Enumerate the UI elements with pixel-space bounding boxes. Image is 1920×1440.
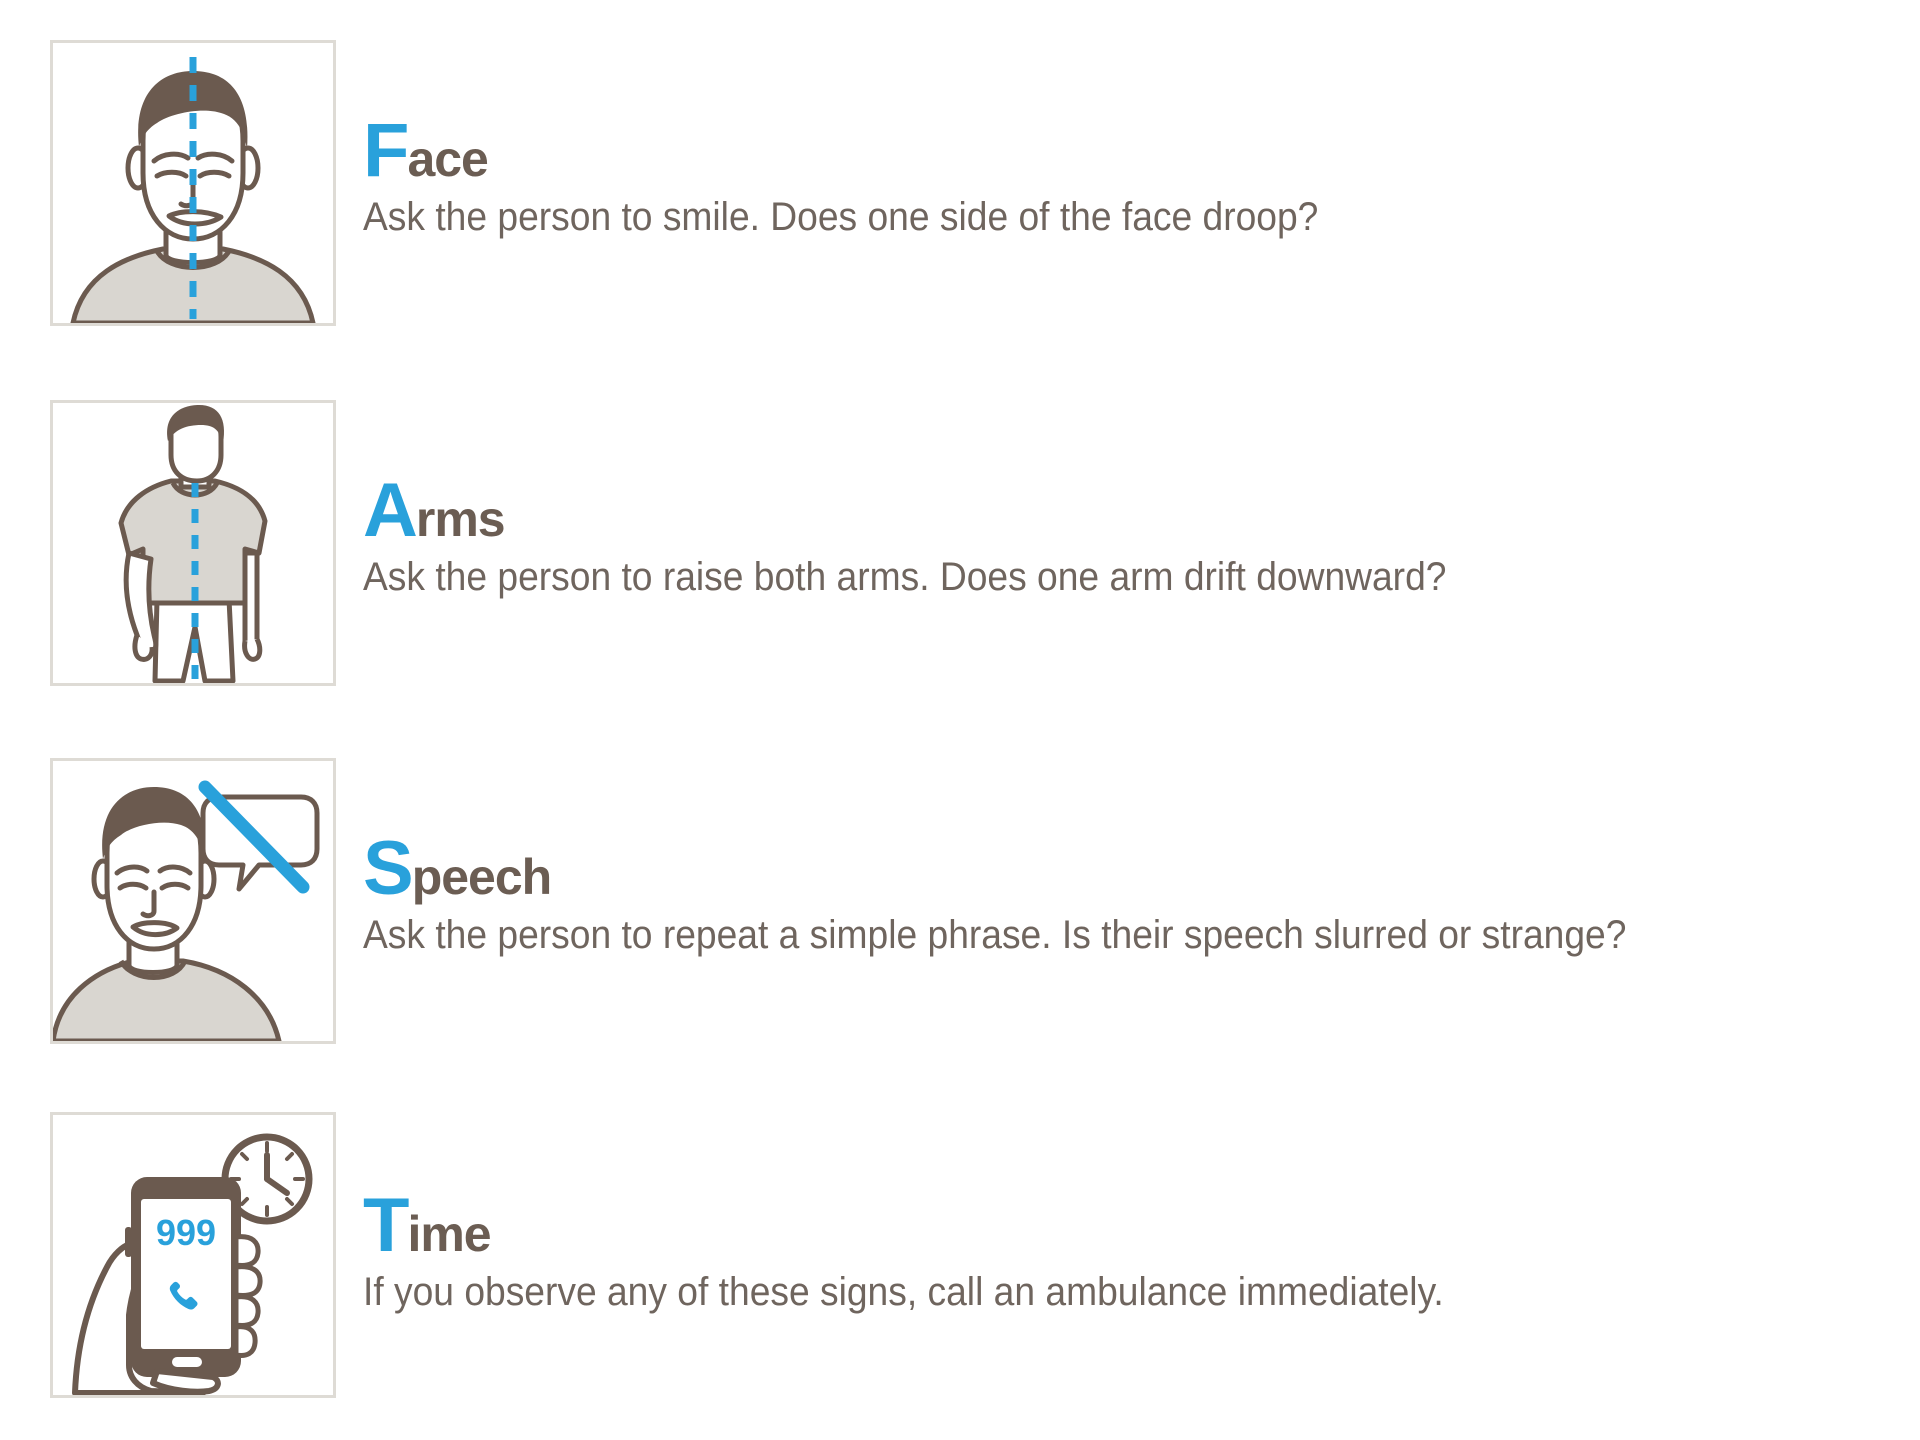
text-block-face: Face Ask the person to smile. Does one s… [363,115,1390,241]
text-block-time: Time If you observe any of these signs, … [363,1190,1525,1316]
heading-initial-letter: S [363,826,412,911]
description-arms: Ask the person to raise both arms. Does … [363,553,1446,601]
phone-screen-number: 999 [156,1212,216,1253]
heading-remainder: peech [412,849,552,905]
heading-face: Face [363,115,1390,187]
heading-remainder: ace [407,131,487,187]
heading-remainder: rms [416,491,505,547]
text-block-arms: Arms Ask the person to raise both arms. … [363,475,1528,601]
description-time: If you observe any of these signs, call … [363,1268,1444,1316]
text-block-speech: Speech Ask the person to repeat a simple… [363,833,1722,959]
heading-initial-letter: T [363,1183,407,1268]
heading-arms: Arms [363,475,1528,547]
description-face: Ask the person to smile. Does one side o… [363,193,1318,241]
illustration-panel-time: 999 [50,1112,336,1398]
heading-initial-letter: F [363,108,407,193]
heading-remainder: ime [407,1206,490,1262]
heading-speech: Speech [363,833,1722,905]
illustration-panel-face [50,40,336,326]
heading-initial-letter: A [363,468,416,553]
heading-time: Time [363,1190,1525,1262]
description-speech: Ask the person to repeat a simple phrase… [363,911,1626,959]
fast-stroke-infographic: Face Ask the person to smile. Does one s… [0,0,1920,1440]
illustration-panel-arms [50,400,336,686]
illustration-panel-speech [50,758,336,1044]
